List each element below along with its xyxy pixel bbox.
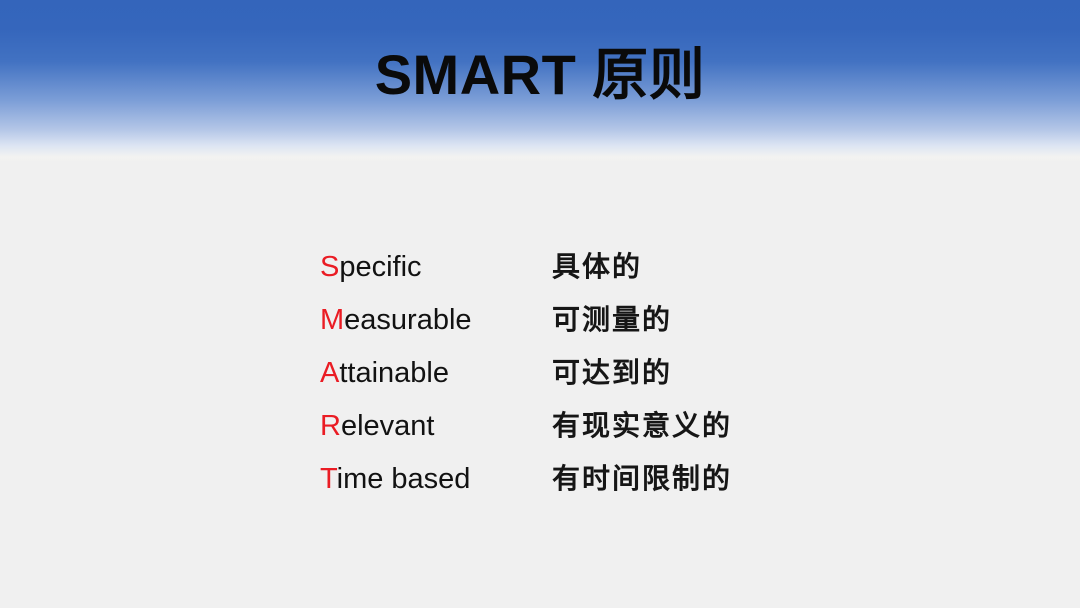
term-time-based: Time based	[320, 462, 552, 496]
page-title: SMART原则	[0, 40, 1080, 110]
term-initial: R	[320, 410, 341, 442]
term-specific: Specific	[320, 250, 552, 284]
slide: SMART原则 Specific 具体的 Measurable 可测量的 Att…	[0, 0, 1080, 608]
term-rest: ttainable	[339, 357, 449, 389]
page-title-en: SMART	[375, 43, 577, 106]
list-item: Measurable 可测量的	[320, 303, 960, 356]
term-rest: easurable	[344, 304, 471, 336]
list-item: Relevant 有现实意义的	[320, 409, 960, 462]
meaning-time-based: 有时间限制的	[552, 462, 732, 496]
term-measurable: Measurable	[320, 303, 552, 337]
term-initial: T	[320, 463, 337, 495]
term-initial: M	[320, 304, 344, 336]
smart-principles-list: Specific 具体的 Measurable 可测量的 Attainable …	[320, 250, 960, 515]
term-initial: A	[320, 357, 339, 389]
list-item: Time based 有时间限制的	[320, 462, 960, 515]
page-title-cn: 原则	[592, 43, 705, 106]
meaning-measurable: 可测量的	[552, 303, 672, 337]
list-item: Specific 具体的	[320, 250, 960, 303]
list-item: Attainable 可达到的	[320, 356, 960, 409]
term-attainable: Attainable	[320, 356, 552, 390]
term-rest: pecific	[339, 251, 421, 283]
term-rest: elevant	[341, 410, 435, 442]
term-initial: S	[320, 251, 339, 283]
term-relevant: Relevant	[320, 409, 552, 443]
meaning-attainable: 可达到的	[552, 356, 672, 390]
meaning-relevant: 有现实意义的	[552, 409, 732, 443]
meaning-specific: 具体的	[552, 250, 642, 284]
term-rest: ime based	[337, 463, 471, 495]
